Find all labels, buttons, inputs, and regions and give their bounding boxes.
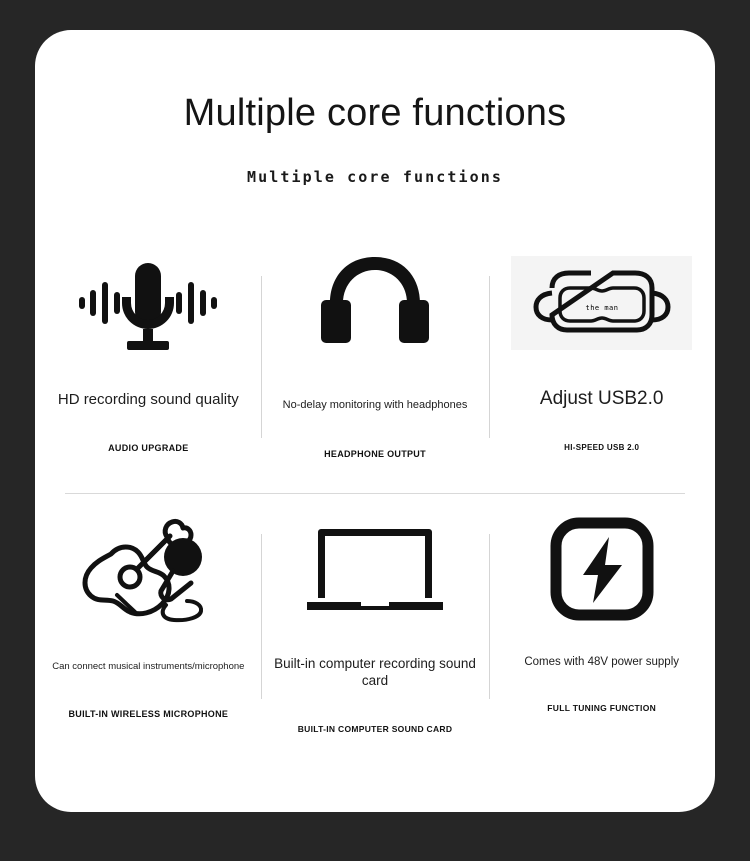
headphones-icon xyxy=(320,240,430,365)
feature-label: HD recording sound quality xyxy=(52,391,245,410)
vr-headset-inner-text: the man xyxy=(585,304,618,312)
feature-caption: FULL TUNING FUNCTION xyxy=(541,703,662,713)
feature-label: No-delay monitoring with headphones xyxy=(277,399,474,413)
feature-grid: HD recording sound quality AUDIO UPGRADE xyxy=(35,240,715,751)
power-bolt-icon xyxy=(550,506,654,631)
vr-headset-tile: the man xyxy=(511,240,692,365)
feature-caption: BUILT-IN WIRELESS MICROPHONE xyxy=(62,709,234,719)
page-subtitle: Multiple core functions xyxy=(35,168,715,186)
feature-item-wireless-microphone[interactable]: Can connect musical instruments/micropho… xyxy=(35,506,262,751)
feature-item-audio-upgrade[interactable]: HD recording sound quality AUDIO UPGRADE xyxy=(35,240,262,485)
microphone-icon xyxy=(73,240,223,365)
feature-caption: BUILT-IN COMPUTER SOUND CARD xyxy=(292,724,459,734)
feature-item-headphone-output[interactable]: No-delay monitoring with headphones HEAD… xyxy=(262,240,489,485)
feature-label: Adjust USB2.0 xyxy=(534,387,670,411)
page-background: Multiple core functions Multiple core fu… xyxy=(0,0,750,861)
guitar-microphone-icon xyxy=(73,506,223,631)
section-divider-row xyxy=(35,493,715,494)
feature-item-usb[interactable]: the man Adjust USB2.0 HI-SPEED USB 2.0 xyxy=(488,240,715,485)
feature-row-1: HD recording sound quality AUDIO UPGRADE xyxy=(35,240,715,485)
laptop-icon xyxy=(305,506,445,631)
feature-row-2: Can connect musical instruments/micropho… xyxy=(35,506,715,751)
vr-headset-icon: the man xyxy=(511,256,692,350)
feature-card: Multiple core functions Multiple core fu… xyxy=(35,30,715,812)
feature-caption: HI-SPEED USB 2.0 xyxy=(558,443,645,452)
feature-label: Can connect musical instruments/micropho… xyxy=(46,661,250,673)
feature-label: Comes with 48V power supply xyxy=(518,655,685,669)
feature-item-computer-sound-card[interactable]: Built-in computer recording sound card B… xyxy=(262,506,489,751)
feature-item-power-supply[interactable]: Comes with 48V power supply FULL TUNING … xyxy=(488,506,715,751)
feature-label: Built-in computer recording sound card xyxy=(262,656,489,690)
page-title: Multiple core functions xyxy=(35,92,715,135)
feature-caption: AUDIO UPGRADE xyxy=(102,443,194,453)
feature-caption: HEADPHONE OUTPUT xyxy=(318,449,432,459)
horizontal-divider xyxy=(65,493,685,494)
